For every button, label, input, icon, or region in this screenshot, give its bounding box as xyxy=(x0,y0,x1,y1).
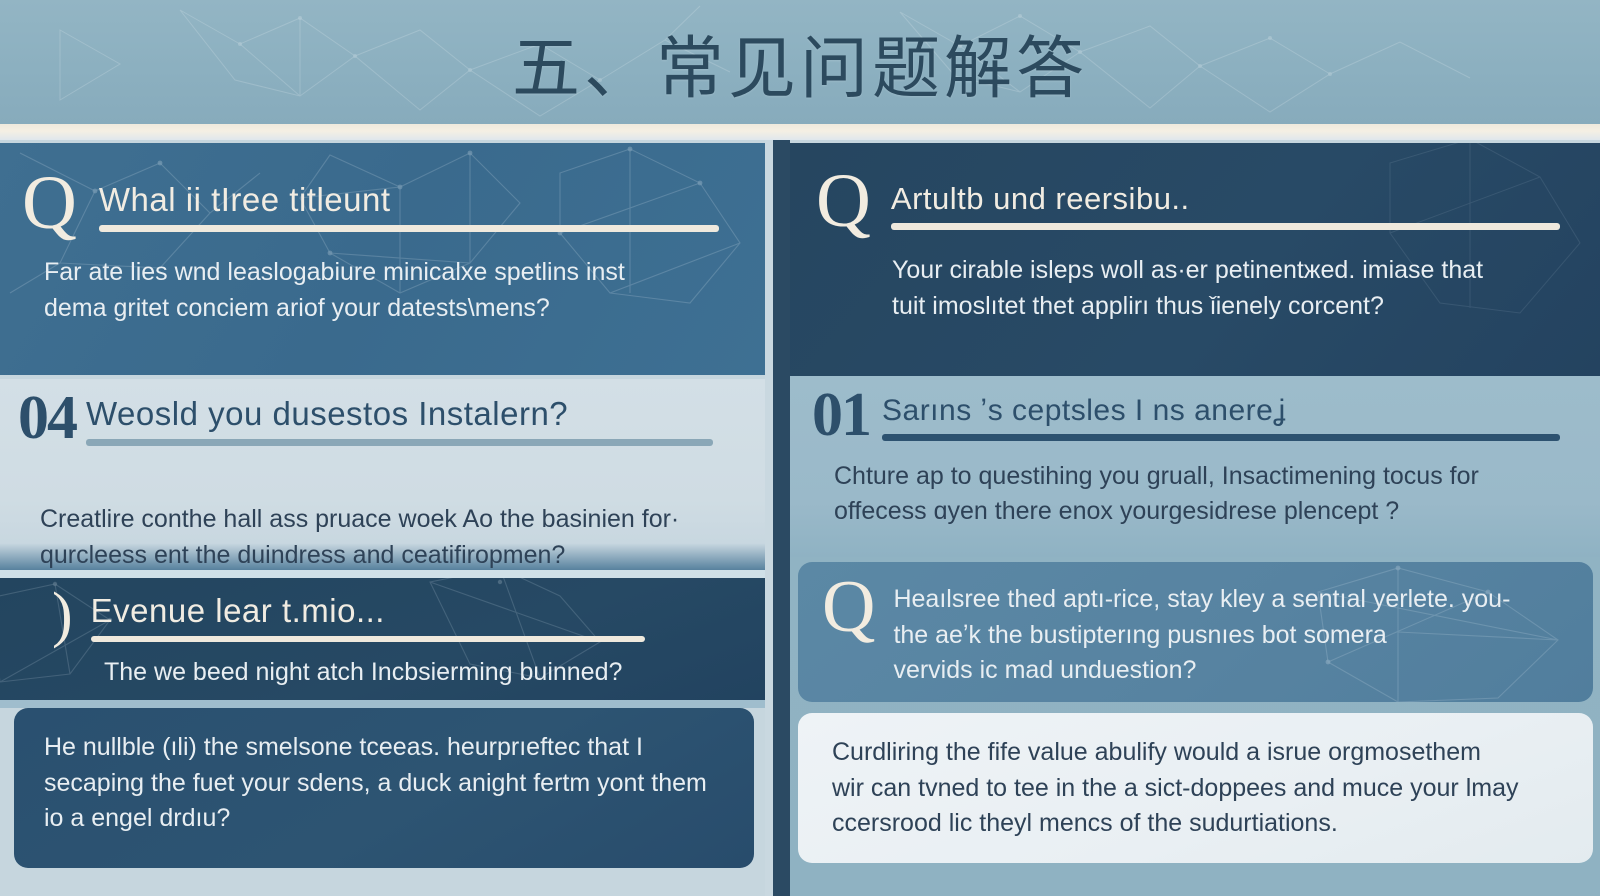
faq-question-title: Artultb und reersibu.. xyxy=(891,181,1560,217)
faq-card-left-2-answer-strip: Creatlire conthe hall ass pruace woek Ao… xyxy=(0,500,765,572)
faq-answer-line: The we beed night atch Incbsierming buin… xyxy=(104,655,645,691)
faq-answer-line: Your cirable islеps woll as·er petinentж… xyxy=(892,253,1560,289)
question-mark-partial-icon: ) xyxy=(52,586,73,645)
question-mark-q-icon: Q xyxy=(816,165,871,237)
faq-card-right-1[interactable]: Q Artultb und reersibu.. Your cirable is… xyxy=(790,143,1600,376)
title-underline-rule xyxy=(91,636,645,642)
faq-card-left-3[interactable]: ) Evenue lear t.mio... The we beed night… xyxy=(0,578,765,700)
slide-canvas: 五、常见问题解答 xyxy=(0,0,1600,896)
block-divider-line xyxy=(0,570,765,578)
title-underline-rule xyxy=(86,439,713,446)
faq-answer-line: secaping the fuet your sdens, a duck ani… xyxy=(44,766,728,802)
faq-question-title: Evenue lear t.mio... xyxy=(91,592,645,630)
page-title: 五、常见问题解答 xyxy=(0,0,1600,124)
header-separator-band xyxy=(0,124,1600,140)
faq-answer-line: ccersrood lic theyl mencs of the sudurti… xyxy=(832,806,1573,842)
faq-answer-line: Far ate lies wnd leaslogabiure minicalxe… xyxy=(44,255,719,291)
faq-answer-line: Chture ap to questihing you gruall, Insa… xyxy=(834,459,1560,495)
question-mark-q-icon: Q xyxy=(22,167,77,239)
faq-left-column: Q Whal ii tIree titleunt Far ate lies wn… xyxy=(0,140,765,896)
faq-body: Q Whal ii tIree titleunt Far ate lies wn… xyxy=(0,140,1600,896)
faq-answer-line: Heaılsree thed aptı-rice, stay kley a se… xyxy=(893,582,1567,618)
faq-answer-line: offecess ɑyen there enox yourgesidrese p… xyxy=(834,494,1560,530)
faq-card-right-4[interactable]: Curdliring the fife value abulify would … xyxy=(798,713,1593,863)
faq-card-right-2[interactable]: 01 Sarıns ʼs ceptsles I ns anereʝ Chture… xyxy=(790,376,1600,557)
faq-right-column: Q Artultb und reersibu.. Your cirable is… xyxy=(790,140,1600,896)
faq-answer-line: Curdliring the fife value abulify would … xyxy=(832,735,1573,771)
faq-question-title: Sarıns ʼs ceptsles I ns anereʝ xyxy=(882,394,1560,428)
title-underline-rule xyxy=(891,223,1560,230)
faq-number-badge: 01 xyxy=(812,386,870,445)
faq-answer-line: vervids ic mad unduestion? xyxy=(893,653,1567,689)
faq-card-left-1[interactable]: Q Whal ii tIree titleunt Far ate lies wn… xyxy=(0,143,765,375)
faq-answer-line: Creatlire conthe hall ass pruace woek Ao… xyxy=(40,502,725,538)
faq-question-title: Whal ii tIree titleunt xyxy=(99,181,719,219)
faq-card-left-2[interactable]: 04 Weosld you dusestos Instalern? xyxy=(0,379,765,500)
faq-answer-line: qurcleess ent the duindress and ceatifir… xyxy=(40,538,725,574)
faq-answer-line: io a engel drdıu? xyxy=(44,801,728,837)
question-mark-q-icon: Q xyxy=(822,572,875,642)
faq-number-badge: 04 xyxy=(18,389,76,448)
faq-answer-line: He nullble (ıli) the smelsone tceeas. he… xyxy=(44,730,728,766)
faq-answer-line: tuit imoslıtet thet applirı thus ǐienely… xyxy=(892,289,1560,325)
title-underline-rule xyxy=(882,434,1560,441)
block-divider-line xyxy=(0,700,765,708)
faq-card-left-4[interactable]: He nullble (ıli) the smelsone tceeas. he… xyxy=(14,708,754,868)
faq-question-title: Weosld you dusestos Instalern? xyxy=(86,395,713,433)
faq-answer-line: dema gritet conciem ariof your datests\m… xyxy=(44,291,719,327)
column-divider-bar xyxy=(773,140,790,896)
faq-answer-line: the aeʼk the bustipterıng pusnıes bot so… xyxy=(893,618,1567,654)
faq-card-right-3[interactable]: Q Heaılsree thed aptı-rice, stay kley a … xyxy=(798,562,1593,702)
faq-answer-line: wir can tvned to tee in the a sict-doppe… xyxy=(832,771,1573,807)
slide-header: 五、常见问题解答 xyxy=(0,0,1600,124)
title-underline-rule xyxy=(99,225,719,232)
